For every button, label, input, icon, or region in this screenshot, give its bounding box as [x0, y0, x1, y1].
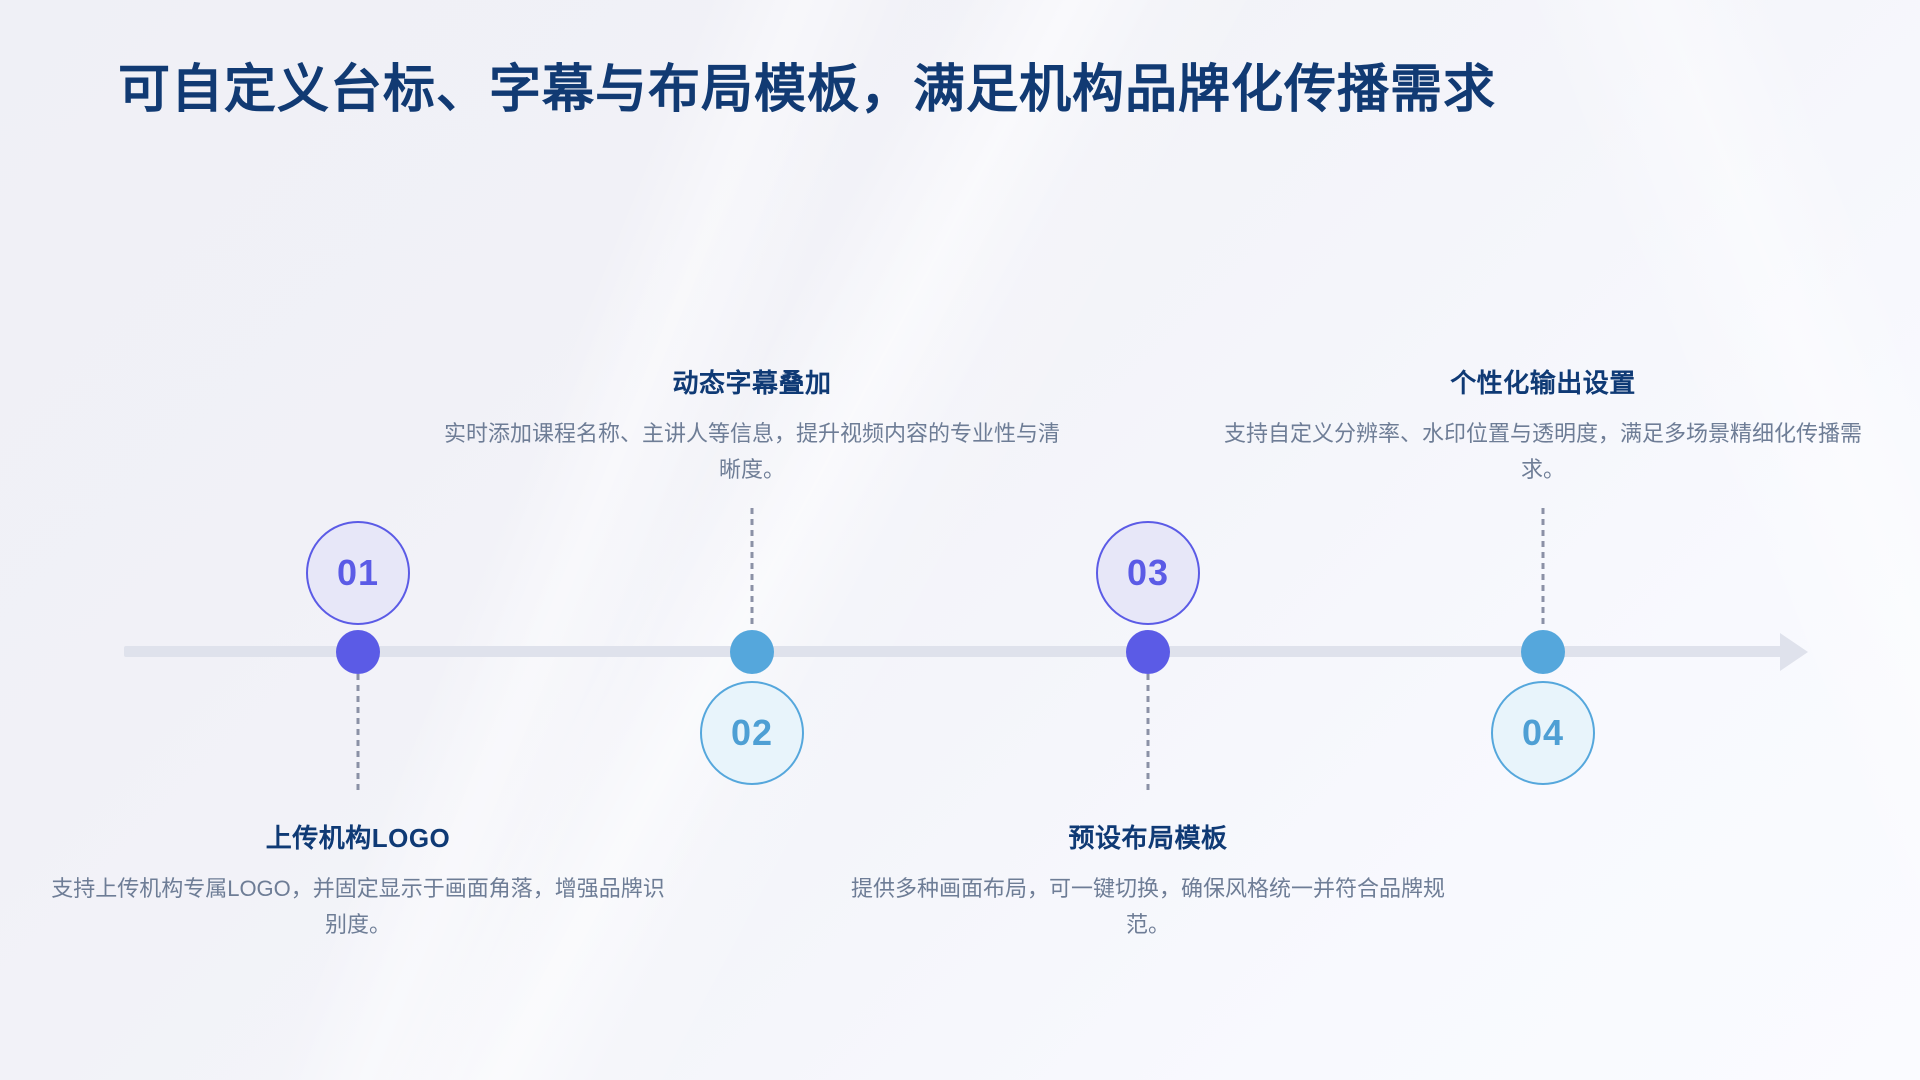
- step-connector-01: [357, 674, 360, 792]
- step-connector-04: [1542, 508, 1545, 628]
- step-number-badge-02: 02: [700, 681, 804, 785]
- step-text-block-03: 预设布局模板 提供多种画面布局，可一键切换，确保风格统一并符合品牌规范。: [838, 818, 1458, 942]
- step-connector-03: [1147, 674, 1150, 792]
- step-description-01: 支持上传机构专属LOGO，并固定显示于画面角落，增强品牌识别度。: [48, 871, 668, 942]
- step-dot-04: [1521, 630, 1565, 674]
- step-number-02: 02: [731, 712, 773, 754]
- arrow-right-icon: [1780, 633, 1808, 671]
- step-dot-01: [336, 630, 380, 674]
- step-number-badge-03: 03: [1096, 521, 1200, 625]
- timeline: 01 上传机构LOGO 支持上传机构专属LOGO，并固定显示于画面角落，增强品牌…: [0, 0, 1920, 1080]
- step-number-badge-01: 01: [306, 521, 410, 625]
- step-title-02: 动态字幕叠加: [442, 363, 1062, 400]
- step-number-04: 04: [1522, 712, 1564, 754]
- step-title-01: 上传机构LOGO: [48, 818, 668, 855]
- step-description-03: 提供多种画面布局，可一键切换，确保风格统一并符合品牌规范。: [838, 871, 1458, 942]
- step-connector-02: [751, 508, 754, 628]
- step-title-04: 个性化输出设置: [1223, 363, 1863, 400]
- step-number-01: 01: [337, 552, 379, 594]
- step-title-03: 预设布局模板: [838, 818, 1458, 855]
- step-number-badge-04: 04: [1491, 681, 1595, 785]
- step-dot-03: [1126, 630, 1170, 674]
- step-text-block-04: 个性化输出设置 支持自定义分辨率、水印位置与透明度，满足多场景精细化传播需求。: [1223, 363, 1863, 487]
- step-number-03: 03: [1127, 552, 1169, 594]
- step-description-04: 支持自定义分辨率、水印位置与透明度，满足多场景精细化传播需求。: [1223, 416, 1863, 487]
- step-text-block-01: 上传机构LOGO 支持上传机构专属LOGO，并固定显示于画面角落，增强品牌识别度…: [48, 818, 668, 942]
- step-description-02: 实时添加课程名称、主讲人等信息，提升视频内容的专业性与清晰度。: [442, 416, 1062, 487]
- step-text-block-02: 动态字幕叠加 实时添加课程名称、主讲人等信息，提升视频内容的专业性与清晰度。: [442, 363, 1062, 487]
- step-dot-02: [730, 630, 774, 674]
